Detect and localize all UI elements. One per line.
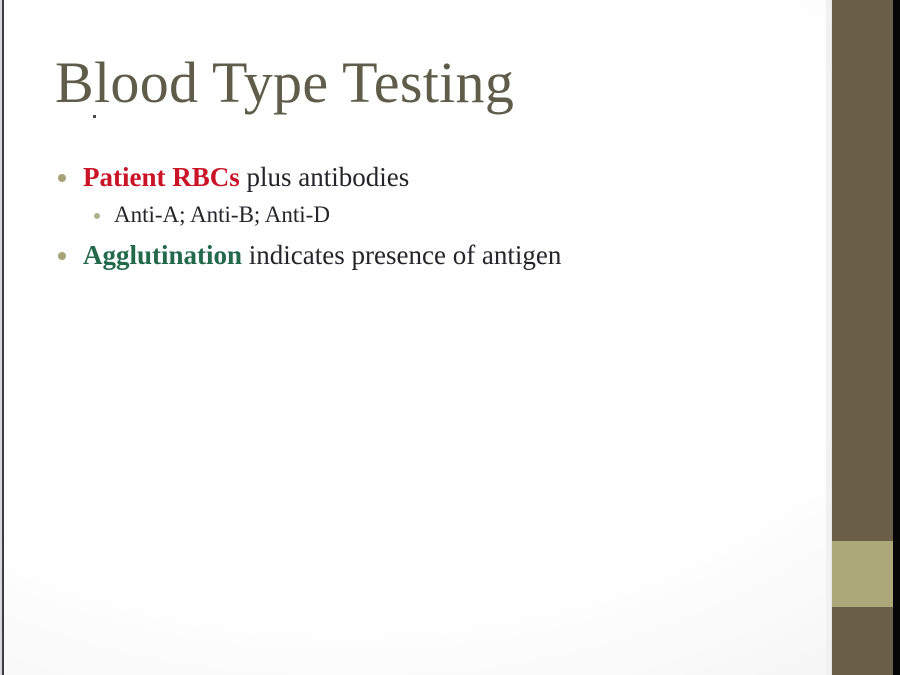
bullet-item-2: Anti-A; Anti-B; Anti-D [94,200,798,230]
bullet-dot-icon [58,252,66,260]
bullet-item-1-emphasis: Patient RBCs [83,162,240,192]
sub-bullet-dot-icon [94,213,100,219]
slide-title: Blood Type Testing [55,52,514,113]
scan-artifact-speck [93,115,96,118]
bullet-item-1: Patient RBCs plus antibodies [58,160,798,194]
slide-body: Patient RBCs plus antibodies Anti-A; Ant… [58,160,798,278]
bullet-item-3-text: Agglutination indicates presence of anti… [83,238,561,272]
sidebar-accent-block [832,541,893,607]
bullet-dot-icon [58,174,66,182]
right-edge-border [893,0,900,675]
presentation-slide: Blood Type Testing Patient RBCs plus ant… [0,0,900,675]
bullet-item-1-text: Patient RBCs plus antibodies [83,160,409,194]
bullet-item-3: Agglutination indicates presence of anti… [58,238,798,272]
bullet-item-3-emphasis: Agglutination [83,240,242,270]
bullet-item-3-rest: indicates presence of antigen [242,240,561,270]
bullet-item-1-rest: plus antibodies [240,162,410,192]
left-edge-line [2,0,4,675]
bullet-item-2-text: Anti-A; Anti-B; Anti-D [114,200,330,230]
